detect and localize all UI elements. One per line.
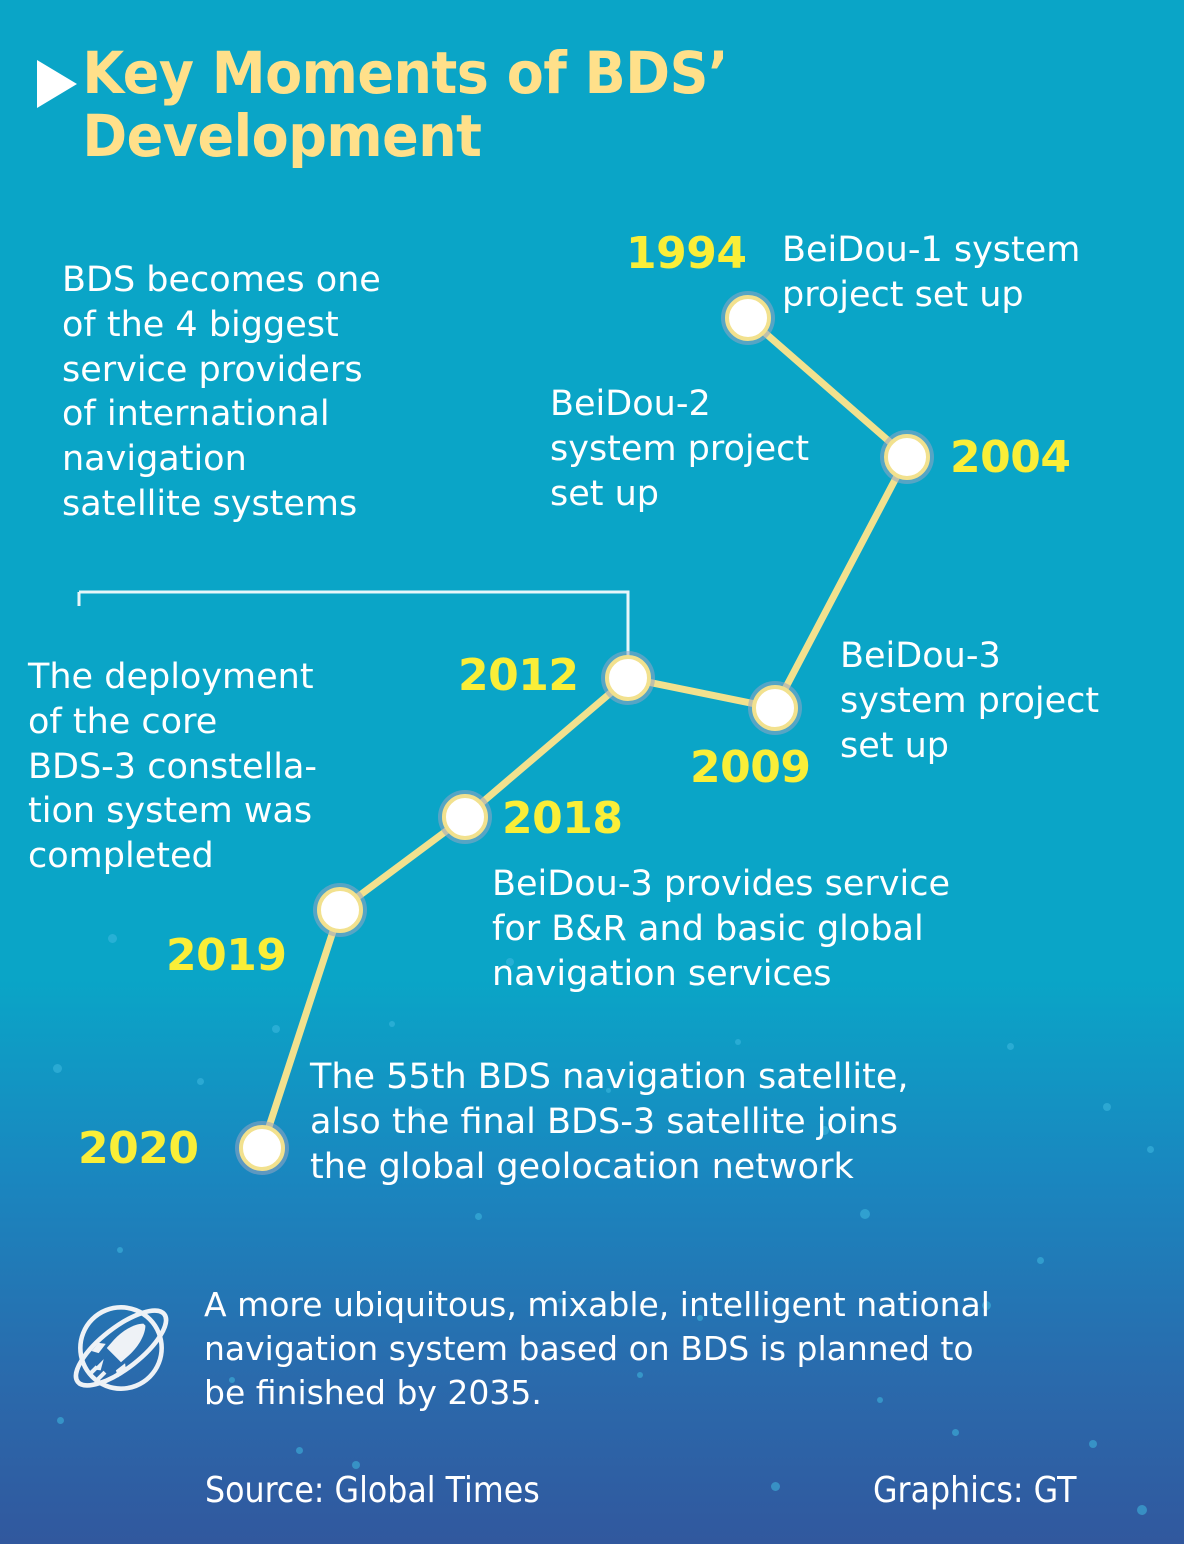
decorative-dot bbox=[735, 1039, 741, 1045]
decorative-dot bbox=[475, 1213, 482, 1220]
decorative-dot bbox=[952, 1429, 959, 1436]
footer: Source: Global Times Graphics: GT bbox=[0, 1470, 1184, 1530]
decorative-dot bbox=[108, 934, 117, 943]
timeline-node-2019[interactable] bbox=[317, 887, 363, 933]
rocket-orbit-icon bbox=[60, 1287, 182, 1409]
event-description-1994: BeiDou-1 system project set up bbox=[782, 228, 1182, 318]
decorative-dot bbox=[1037, 1257, 1044, 1264]
decorative-dot bbox=[860, 1209, 870, 1219]
event-description-2009: BeiDou-3 system project set up bbox=[840, 634, 1180, 768]
future-plan-note: A more ubiquitous, mixable, intelligent … bbox=[60, 1283, 1140, 1416]
event-description-2012: The deployment of the core BDS-3 constel… bbox=[28, 655, 428, 879]
year-label-2019: 2019 bbox=[166, 930, 286, 981]
event-description-2018: BeiDou-3 provides service for B&R and ba… bbox=[492, 862, 1092, 996]
timeline-node-2009[interactable] bbox=[752, 685, 798, 731]
decorative-dot bbox=[389, 1021, 395, 1027]
timeline-node-2004[interactable] bbox=[884, 434, 930, 480]
event-description-2020: The 55th BDS navigation satellite, also … bbox=[310, 1055, 1070, 1189]
decorative-dot bbox=[197, 1078, 204, 1085]
year-label-2009: 2009 bbox=[690, 742, 810, 793]
year-label-2018: 2018 bbox=[502, 793, 622, 844]
decorative-dot bbox=[1089, 1440, 1097, 1448]
footer-graphics: Graphics: GT bbox=[873, 1470, 1076, 1511]
future-plan-text: A more ubiquitous, mixable, intelligent … bbox=[204, 1283, 990, 1416]
intro-note-text: BDS becomes one of the 4 biggest service… bbox=[62, 258, 532, 527]
timeline-node-1994[interactable] bbox=[725, 295, 771, 341]
decorative-dot bbox=[53, 1064, 62, 1073]
decorative-dot bbox=[352, 1461, 360, 1469]
bracket-arm bbox=[79, 592, 628, 656]
decorative-dot bbox=[1007, 1043, 1014, 1050]
footer-source: Source: Global Times bbox=[205, 1470, 540, 1511]
page-title-block: Key Moments of BDS’ Development bbox=[34, 42, 894, 167]
decorative-dot bbox=[1147, 1146, 1154, 1153]
decorative-dot bbox=[117, 1247, 123, 1253]
decorative-dot bbox=[1103, 1103, 1111, 1111]
decorative-dot bbox=[57, 1417, 64, 1424]
timeline-node-2012[interactable] bbox=[605, 655, 651, 701]
timeline-node-2020[interactable] bbox=[239, 1125, 285, 1171]
timeline-node-2018[interactable] bbox=[442, 794, 488, 840]
year-label-1994: 1994 bbox=[626, 228, 746, 279]
decorative-dot bbox=[296, 1447, 303, 1454]
infographic-poster: Key Moments of BDS’ Development 1994 200… bbox=[0, 0, 1184, 1544]
page-title: Key Moments of BDS’ Development bbox=[34, 42, 834, 167]
decorative-dot bbox=[272, 1025, 280, 1033]
event-description-2004: BeiDou-2 system project set up bbox=[550, 382, 880, 516]
year-label-2020: 2020 bbox=[78, 1123, 198, 1174]
year-label-2004: 2004 bbox=[950, 432, 1070, 483]
year-label-2012: 2012 bbox=[458, 650, 578, 701]
